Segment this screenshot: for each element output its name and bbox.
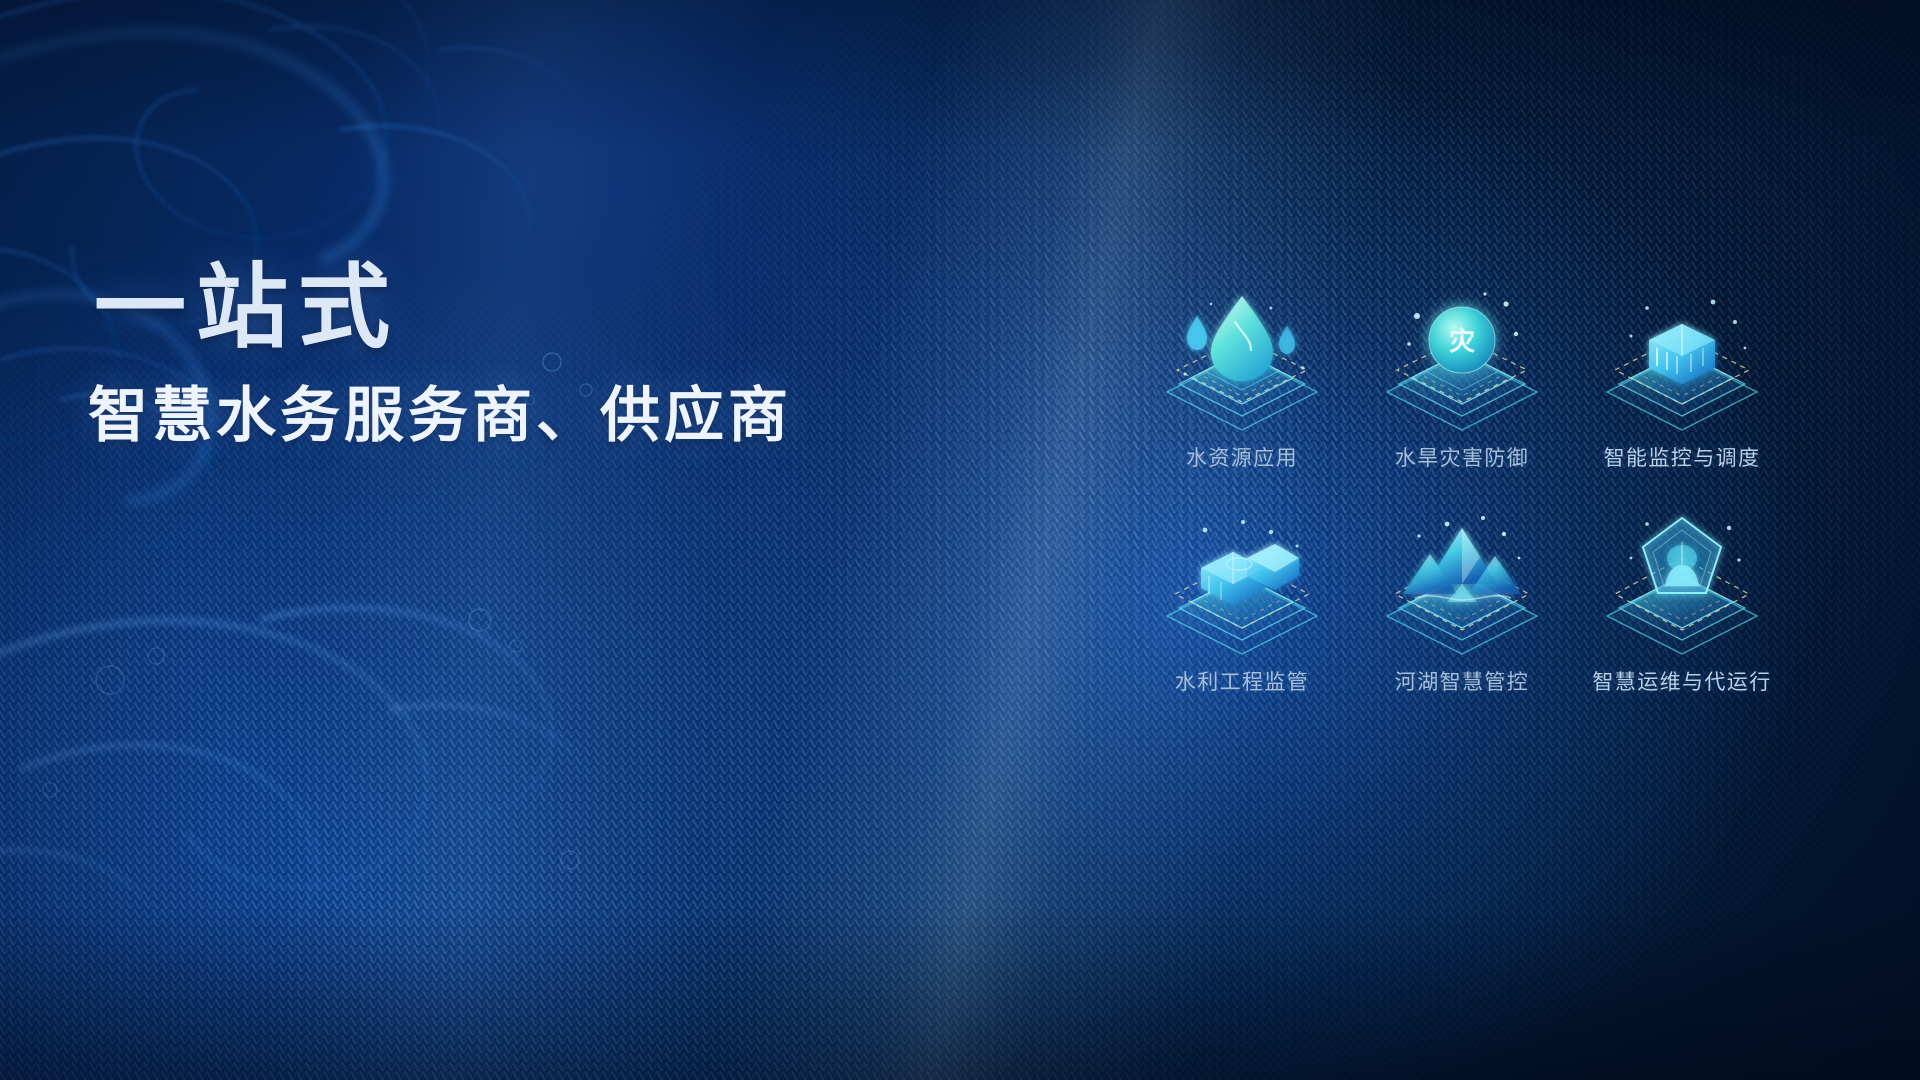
disaster-sphere-icon: 灾 [1367,278,1557,438]
capability-item-river-lake-smart-control[interactable]: 河湖智慧管控 [1352,502,1572,726]
disaster-glyph: 灾 [1449,326,1475,356]
capability-item-flood-drought-defense[interactable]: 灾 水旱灾害防御 [1352,278,1572,502]
capability-item-smart-ops-outsourcing[interactable]: 智慧运维与代运行 [1572,502,1792,726]
capability-item-smart-monitor-dispatch[interactable]: 智能监控与调度 [1572,278,1792,502]
tile-artwork [1587,278,1777,438]
water-droplet-icon [1147,278,1337,438]
capability-label: 水利工程监管 [1175,666,1309,696]
capability-item-water-resource-application[interactable]: 水资源应用 [1132,278,1352,502]
tile-artwork [1147,278,1337,438]
capability-label: 水旱灾害防御 [1395,442,1529,472]
page-subtitle: 智慧水务服务商、供应商 [88,382,792,449]
capability-item-hydro-project-supervision[interactable]: 水利工程监管 [1132,502,1352,726]
river-mountain-icon [1367,502,1557,662]
hero-slide: 一站式 智慧水务服务商、供应商 [0,0,1920,1080]
hydro-structure-icon [1147,502,1337,662]
dam-monitoring-icon [1587,278,1777,438]
capability-label: 智慧运维与代运行 [1592,666,1771,696]
capability-label: 水资源应用 [1186,442,1298,472]
tile-artwork: 灾 [1367,278,1557,438]
tile-artwork [1587,502,1777,662]
tile-artwork [1147,502,1337,662]
capability-grid: 水资源应用 灾 [1132,278,1792,726]
shield-pentagon-icon [1587,502,1777,662]
tile-artwork [1367,502,1557,662]
hero-text-block: 一站式 智慧水务服务商、供应商 [94,262,792,449]
capability-label: 智能监控与调度 [1604,442,1761,472]
page-title: 一站式 [94,262,792,354]
capability-label: 河湖智慧管控 [1395,666,1529,696]
